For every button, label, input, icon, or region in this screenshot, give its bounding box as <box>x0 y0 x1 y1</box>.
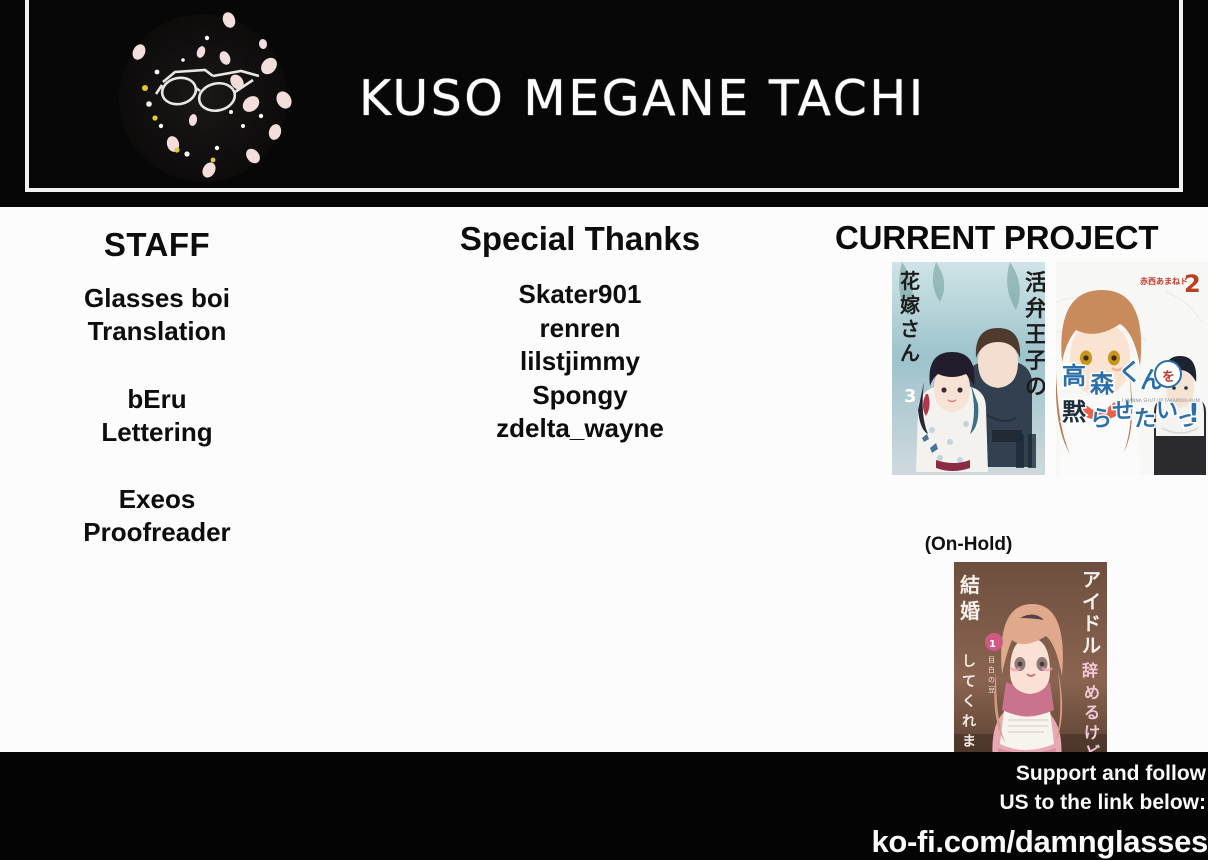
cover-artwork-1: 活 弁 王 子 の 花 嫁 さ ん 3 <box>892 262 1045 475</box>
staff-column: STAFF Glasses boi Translation bEru Lette… <box>14 207 300 550</box>
cover-artwork-2: 高 森 く ん を 黙 ら せ <box>1056 262 1208 475</box>
svg-text:を: を <box>1162 370 1175 385</box>
svg-text:ら: ら <box>1090 407 1112 432</box>
header-banner: KUSO MEGANE TACHI <box>0 0 1208 207</box>
svg-text:ん: ん <box>900 341 920 365</box>
staff-entry: Exeos Proofreader <box>14 483 300 550</box>
manga-cover-idol-yameru-kedo-vol1[interactable]: ア イ ド ル 辞 め る け ど <box>954 562 1107 775</box>
manga-cover-katsuben-ouji-vol3[interactable]: 活 弁 王 子 の 花 嫁 さ ん 3 <box>892 262 1045 475</box>
crescent-moon-glasses-sakura-logo <box>101 8 301 180</box>
staff-member-name: Glasses boi <box>14 282 300 315</box>
list-item: Spongy <box>430 379 730 413</box>
footer-bar: Support and follow US to the link below:… <box>0 752 1208 860</box>
special-thanks-list: Skater901 renren lilstjimmy Spongy zdelt… <box>430 278 730 446</box>
svg-text:活: 活 <box>1025 271 1045 296</box>
cover2-volume-number: 2 <box>1184 270 1201 298</box>
staff-heading: STAFF <box>14 226 300 264</box>
svg-text:目: 目 <box>988 656 995 664</box>
cover3-title-right: ア イ ド ル <box>1082 569 1101 657</box>
support-line-2: US to the link below: <box>688 789 1208 818</box>
credits-page: KUSO MEGANE TACHI STAFF Glasses boi Tran… <box>0 0 1208 860</box>
svg-text:辞: 辞 <box>1082 661 1098 680</box>
svg-text:め: め <box>1084 683 1100 702</box>
cover2-author: 赤西あまねド <box>1140 276 1188 286</box>
support-line-1: Support and follow <box>688 760 1208 789</box>
svg-text:る: る <box>1084 703 1100 722</box>
svg-text:ア: ア <box>1082 569 1101 591</box>
svg-text:イ: イ <box>1082 591 1101 613</box>
svg-text:高: 高 <box>1062 362 1086 390</box>
svg-text:れ: れ <box>962 714 976 730</box>
svg-text:結: 結 <box>960 573 980 597</box>
svg-text:白: 白 <box>988 665 995 674</box>
svg-text:く: く <box>1118 358 1142 386</box>
content-area: STAFF Glasses boi Translation bEru Lette… <box>0 207 1208 752</box>
list-item: renren <box>430 312 730 346</box>
svg-text:の: の <box>988 676 995 684</box>
svg-text:森: 森 <box>1090 370 1115 398</box>
status-badge: (On-Hold) <box>892 534 1045 556</box>
svg-text:ド: ド <box>1082 613 1101 635</box>
staff-member-role: Proofreader <box>14 516 300 549</box>
svg-text:王: 王 <box>1025 323 1045 348</box>
svg-text:豆: 豆 <box>988 686 995 694</box>
staff-member-name: Exeos <box>14 483 300 516</box>
staff-member-role: Lettering <box>14 416 300 449</box>
svg-text:黙: 黙 <box>1062 398 1087 426</box>
special-thanks-heading: Special Thanks <box>430 220 730 258</box>
cover1-title-vertical: 活 弁 王 子 の <box>1025 271 1045 400</box>
logo-artwork <box>101 8 301 180</box>
svg-text:し: し <box>962 654 976 670</box>
svg-text:く: く <box>962 694 976 710</box>
svg-text:嫁: 嫁 <box>900 293 920 317</box>
svg-text:て: て <box>962 674 976 690</box>
svg-text:ル: ル <box>1082 635 1101 657</box>
footer-text-block: Support and follow US to the link below:… <box>688 760 1208 860</box>
current-project-column: CURRENT PROJECT <box>830 207 1208 257</box>
cover2-romaji: I WANNA SHUT UP TAKAMORI-KUN! <box>1122 398 1201 404</box>
svg-text:子: 子 <box>1025 349 1045 374</box>
svg-text:け: け <box>1084 723 1100 742</box>
staff-member-name: bEru <box>14 383 300 416</box>
list-item: Skater901 <box>430 278 730 312</box>
list-item: lilstjimmy <box>430 345 730 379</box>
staff-entry: bEru Lettering <box>14 383 300 450</box>
svg-text:1: 1 <box>989 639 996 650</box>
svg-text:花: 花 <box>900 269 920 293</box>
current-project-heading: CURRENT PROJECT <box>835 219 1208 257</box>
staff-member-role: Translation <box>14 315 300 348</box>
special-thanks-column: Special Thanks Skater901 renren lilstjim… <box>430 207 730 446</box>
svg-text:弁: 弁 <box>1025 296 1045 322</box>
manga-cover-takamori-kun-vol2[interactable]: 高 森 く ん を 黙 ら せ <box>1056 262 1208 475</box>
cover-artwork-3: ア イ ド ル 辞 め る け ど <box>954 562 1107 775</box>
header-frame-border: KUSO MEGANE TACHI <box>25 0 1183 192</box>
kofi-link[interactable]: ko-fi.com/damnglasses <box>688 824 1208 860</box>
svg-text:さ: さ <box>900 317 920 341</box>
staff-entry: Glasses boi Translation <box>14 282 300 349</box>
cover1-volume-number: 3 <box>904 386 917 407</box>
page-title: KUSO MEGANE TACHI <box>359 70 926 127</box>
svg-text:ま: ま <box>962 734 976 750</box>
svg-text:の: の <box>1025 375 1045 400</box>
svg-text:た: た <box>1134 407 1156 432</box>
svg-text:婚: 婚 <box>960 599 980 623</box>
list-item: zdelta_wayne <box>430 412 730 446</box>
